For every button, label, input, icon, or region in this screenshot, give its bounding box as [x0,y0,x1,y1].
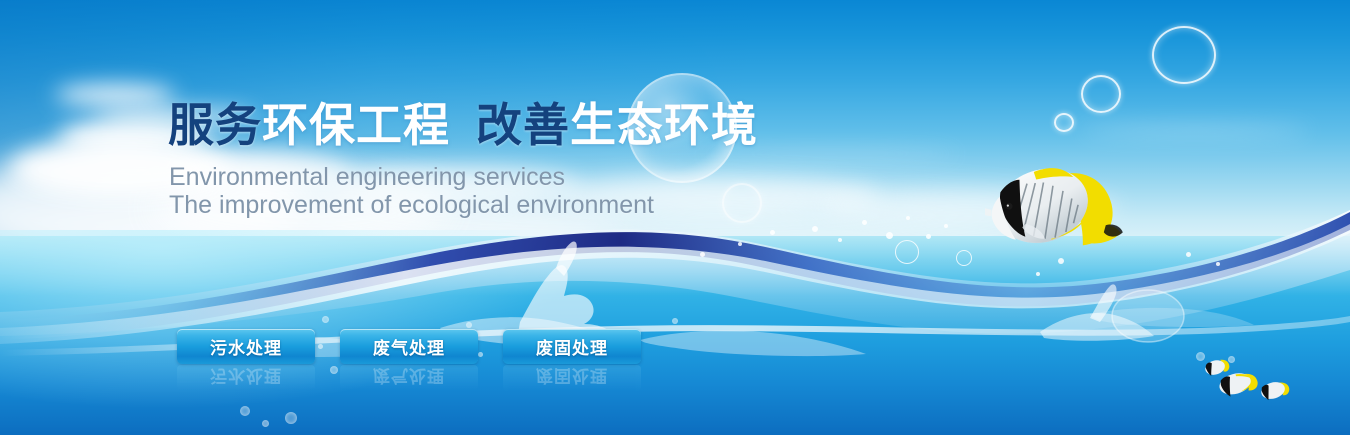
underwater-bubble-9 [285,412,297,424]
underwater-bubble-6 [672,318,678,324]
underwater-bubble-1 [322,316,329,323]
title-part1-light: 环保工程 [262,99,450,151]
cloud-streak-right [1080,126,1310,136]
underwater-bubble-7 [240,406,250,416]
title-part2-dark: 改善 [476,99,570,151]
droplet-ring-1 [895,240,919,264]
underwater-bubble-4 [466,322,472,328]
underwater-bubble-5 [478,352,483,357]
butterflyfish-main-icon [985,140,1125,270]
droplet-10 [770,230,775,235]
droplet-2 [838,238,842,242]
butterflyfish-small-2-icon [1258,378,1292,402]
droplet-7 [944,224,948,228]
button-wastewater-treatment[interactable]: 污水处理 [177,329,315,364]
droplet-5 [906,216,910,220]
subtitle-line-1: Environmental engineering services [169,162,565,192]
button-waste-gas-treatment[interactable]: 废气处理 [340,329,478,364]
underwater-bubble-2 [318,344,323,349]
butterflyfish-small-3-icon [1202,356,1232,378]
underwater-bubble-3 [330,366,338,374]
bubble-ring-large-icon [1152,26,1216,84]
title-part1-dark: 服务 [168,99,262,151]
cloud-wisp-1 [55,84,175,106]
droplet-14 [1216,262,1220,266]
underwater-bubble-8 [262,420,269,427]
title-bubble-icon [627,73,737,183]
droplet-12 [1036,272,1040,276]
droplet-ring-2 [956,250,972,266]
droplet-13 [1186,252,1191,257]
droplet-3 [862,220,867,225]
droplet-4 [886,232,893,239]
button-solid-waste-treatment[interactable]: 废固处理 [503,329,641,364]
hero-banner: 服务环保工程改善生态环境 Environmental engineering s… [0,0,1350,435]
bubble-ring-small-icon [1054,113,1074,132]
bubble-ring-medium-icon [1081,75,1121,113]
droplet-6 [926,234,931,239]
droplet-8 [700,252,705,257]
droplet-9 [738,242,742,246]
droplet-1 [812,226,818,232]
